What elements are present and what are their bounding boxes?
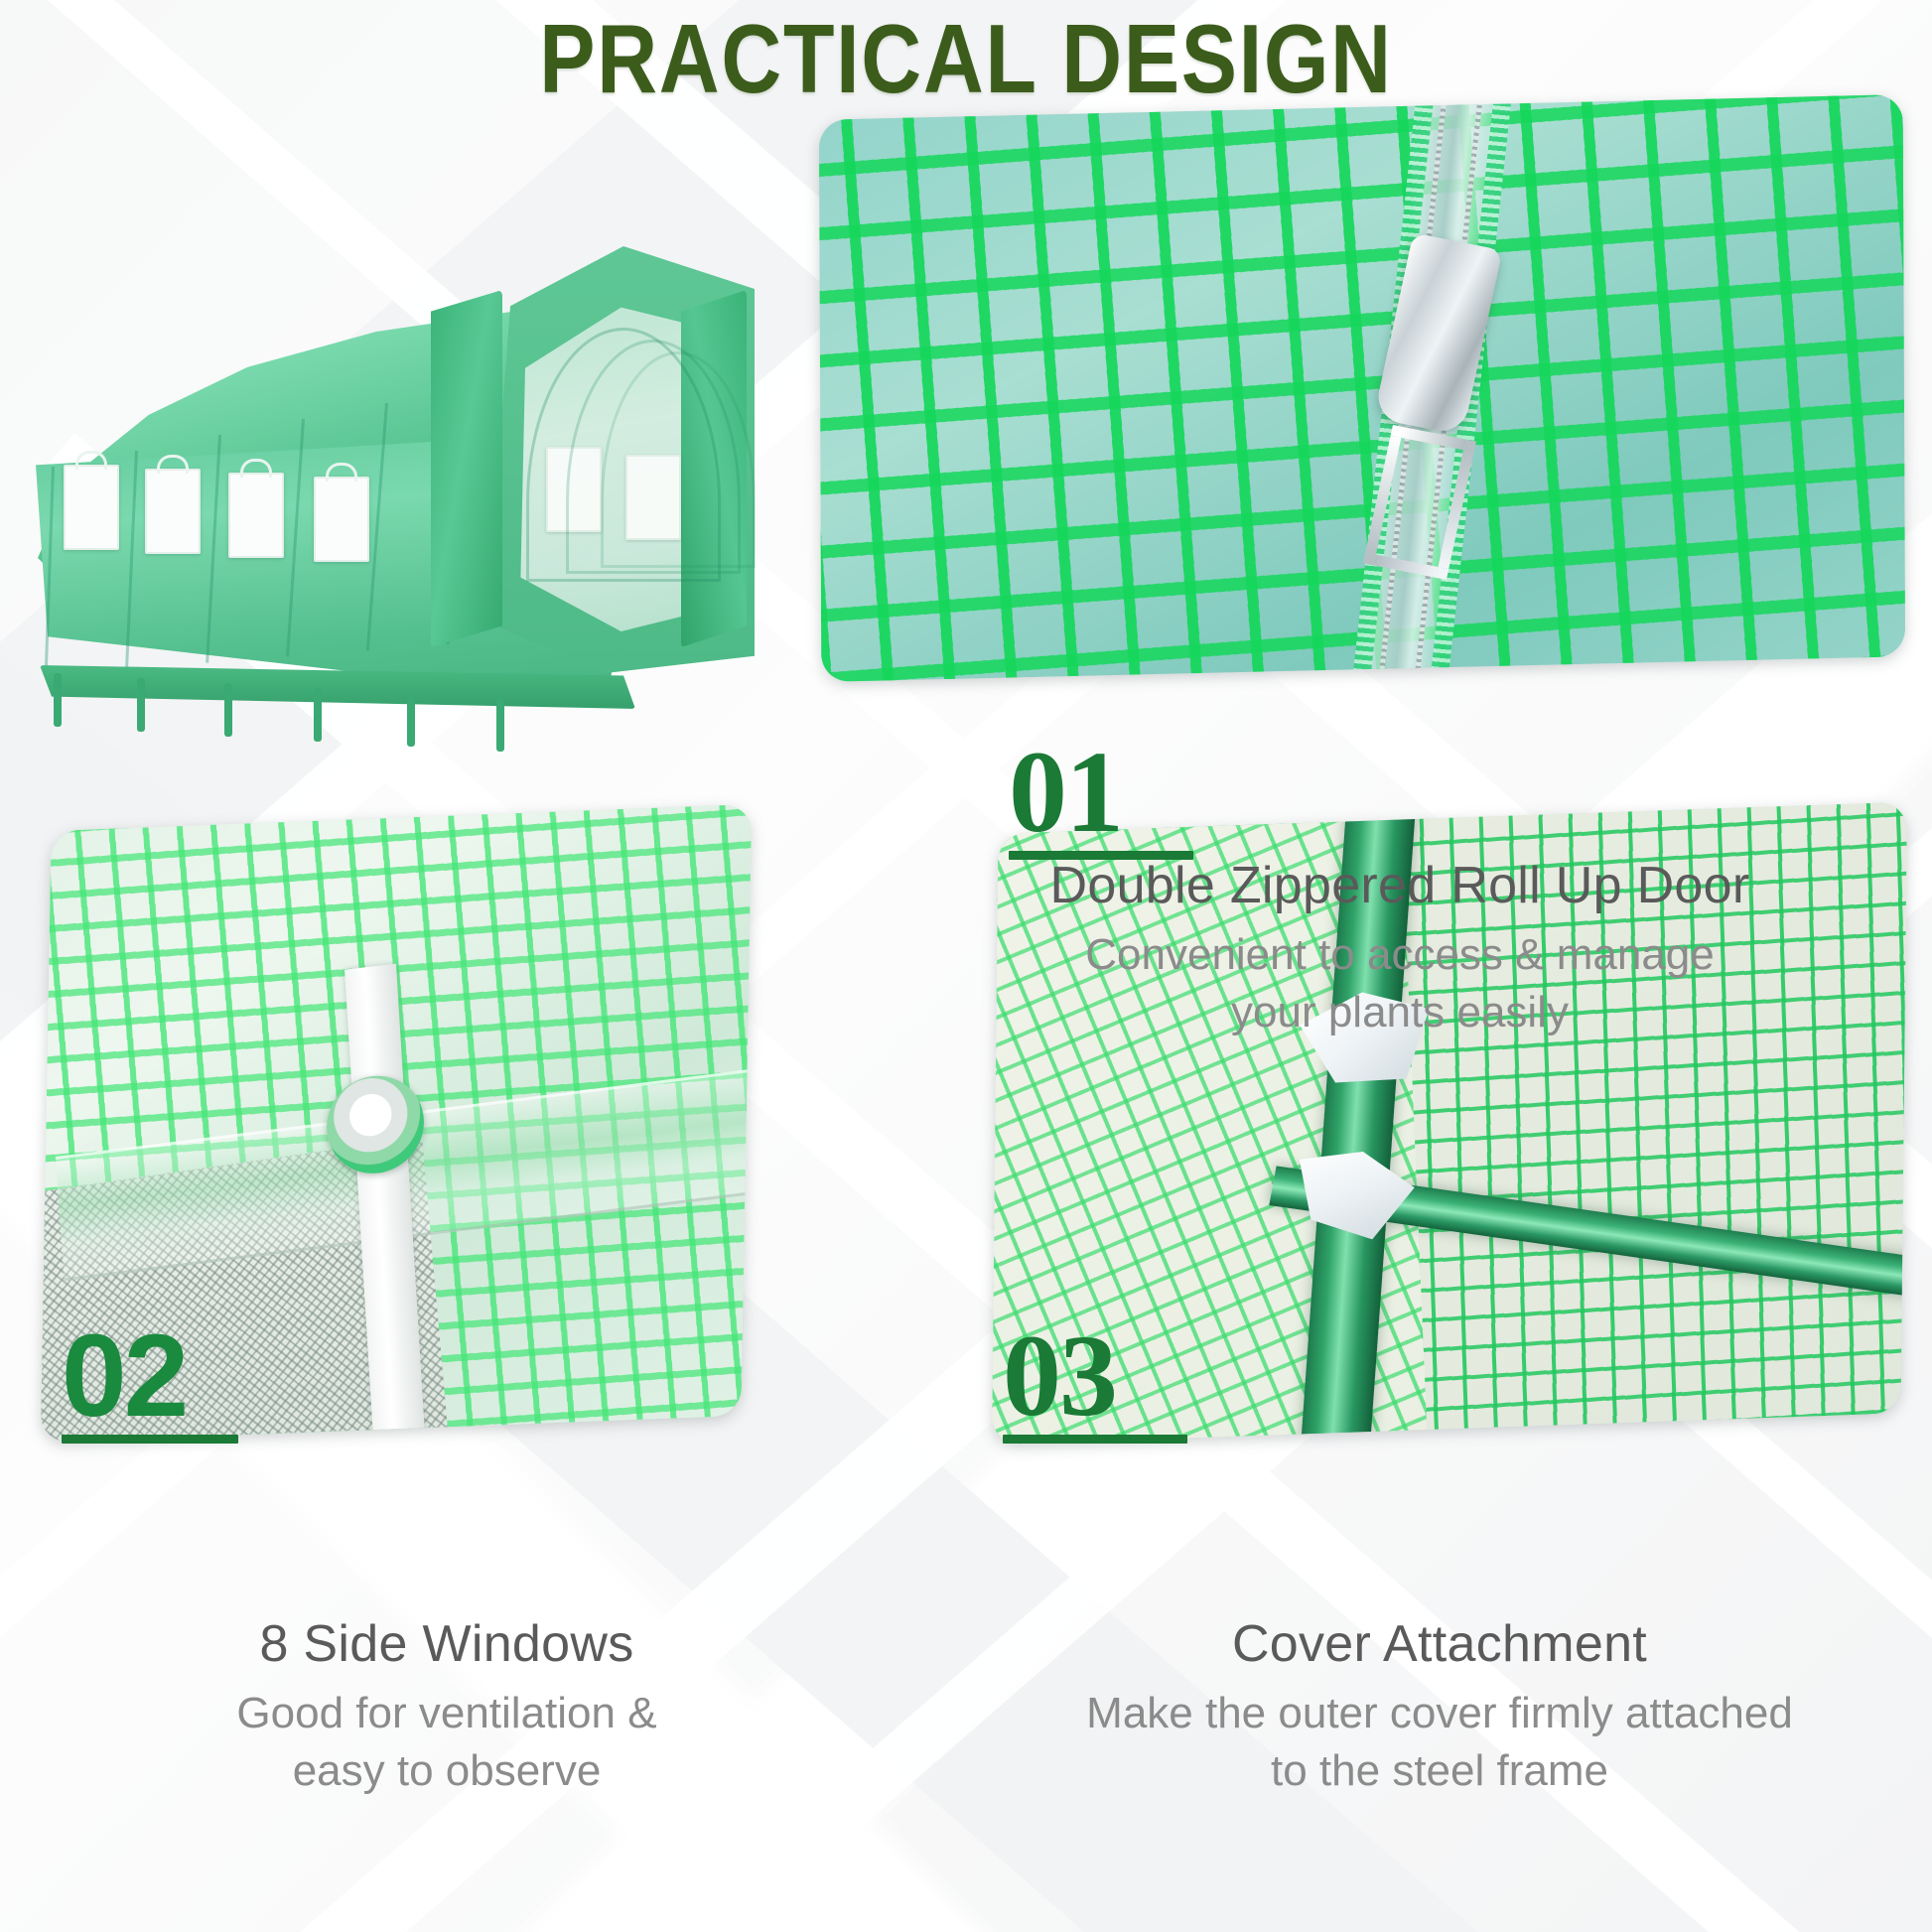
feature-sub-02: Good for ventilation & easy to observe bbox=[119, 1685, 774, 1798]
feature-heading-01: Double Zippered Roll Up Door bbox=[894, 856, 1906, 916]
feature-number-01: 01 bbox=[1009, 739, 1193, 860]
greenhouse-rib bbox=[125, 451, 138, 669]
feature-caption-03: Cover Attachment Make the outer cover fi… bbox=[973, 1614, 1906, 1799]
feature-heading-02: 8 Side Windows bbox=[119, 1614, 774, 1675]
feature-sub-01-line1: Convenient to access & manage bbox=[894, 926, 1906, 983]
window-hook-icon bbox=[240, 459, 272, 478]
greenhouse-door-flap-left bbox=[431, 290, 502, 647]
frame-leg bbox=[54, 673, 62, 727]
feature-number-02-text: 02 bbox=[62, 1322, 238, 1431]
window-hook-icon bbox=[75, 451, 107, 470]
infographic-root: PRACTICAL DESIGN bbox=[0, 0, 1932, 1932]
side-window bbox=[64, 465, 119, 550]
feature-number-02: 02 bbox=[62, 1322, 238, 1444]
feature-sub-03-line1: Make the outer cover firmly attached bbox=[973, 1685, 1906, 1741]
page-title: PRACTICAL DESIGN bbox=[135, 8, 1797, 110]
feature-sub-03: Make the outer cover firmly attached to … bbox=[973, 1685, 1906, 1798]
hero-product-photo bbox=[30, 199, 784, 715]
frame-leg bbox=[496, 698, 504, 752]
frame-leg bbox=[407, 693, 415, 747]
window-hook-icon bbox=[326, 463, 357, 482]
greenhouse-rib bbox=[206, 435, 221, 663]
side-window bbox=[228, 473, 284, 558]
frame-leg bbox=[314, 688, 322, 742]
greenhouse-rib bbox=[366, 403, 388, 650]
feature-sub-01-line2: your plants easily bbox=[894, 984, 1906, 1040]
feature-sub-02-line1: Good for ventilation & bbox=[119, 1685, 774, 1741]
frame-leg bbox=[137, 678, 145, 732]
feature-caption-02: 8 Side Windows Good for ventilation & ea… bbox=[119, 1614, 774, 1799]
frame-leg bbox=[224, 683, 232, 737]
feature-sub-03-line2: to the steel frame bbox=[973, 1742, 1906, 1799]
window-hook-icon bbox=[157, 455, 189, 474]
feature-sub-02-line2: easy to observe bbox=[119, 1742, 774, 1799]
greenhouse-illustration bbox=[30, 199, 784, 715]
feature-number-03: 03 bbox=[1003, 1322, 1187, 1444]
feature-number-01-text: 01 bbox=[1009, 739, 1193, 847]
greenhouse-rib bbox=[45, 467, 55, 675]
feature-caption-01: Double Zippered Roll Up Door Convenient … bbox=[894, 856, 1906, 1040]
side-window bbox=[145, 469, 201, 554]
side-window bbox=[314, 477, 369, 562]
greenhouse-rib bbox=[286, 419, 305, 657]
feature-photo-01 bbox=[819, 94, 1905, 682]
feature-heading-03: Cover Attachment bbox=[973, 1614, 1906, 1675]
feature-sub-01: Convenient to access & manage your plant… bbox=[894, 926, 1906, 1039]
feature-number-03-text: 03 bbox=[1003, 1322, 1187, 1431]
